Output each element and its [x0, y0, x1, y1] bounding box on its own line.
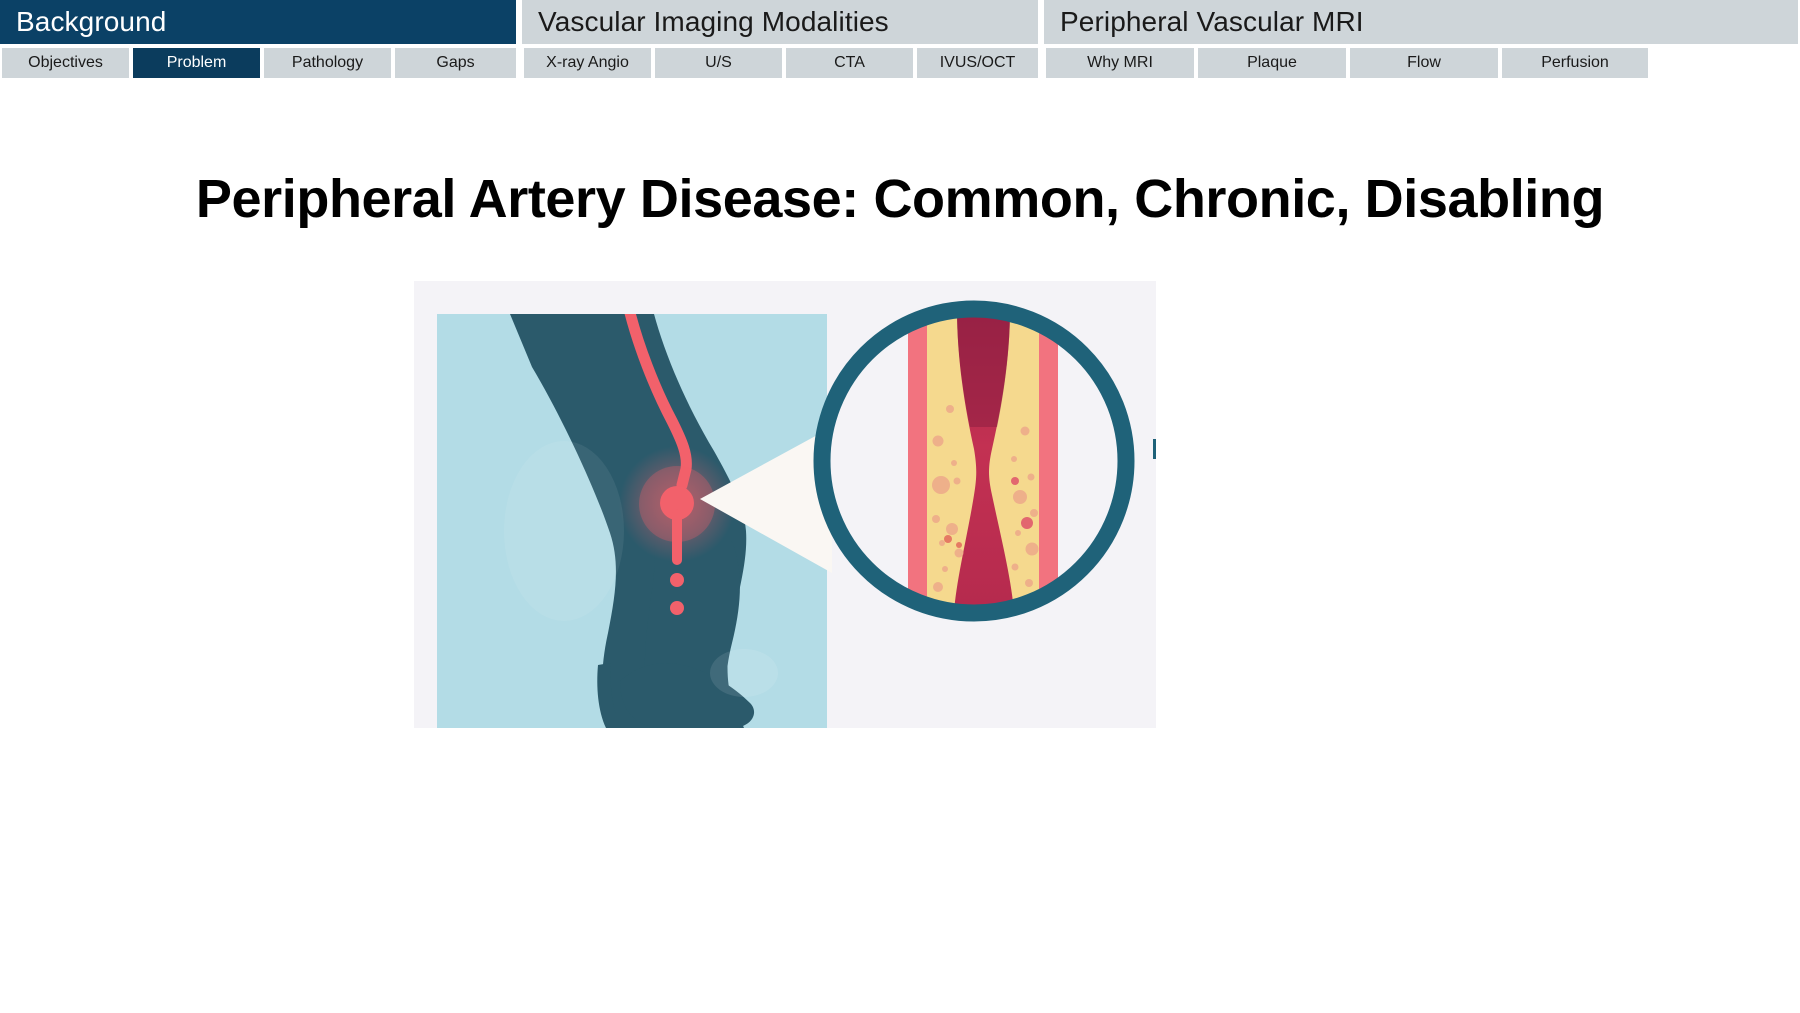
pad-illustration-figure — [414, 281, 1156, 728]
artery-dot-2 — [670, 601, 684, 615]
subtab-group-vascular-imaging-modalities: X-ray Angio U/S CTA IVUS/OCT — [522, 48, 1040, 78]
artery-magnifier — [822, 309, 1126, 613]
section-title-background[interactable]: Background — [0, 0, 518, 44]
vessel-wall-left — [908, 309, 927, 613]
subtab-group-background: Objectives Problem Pathology Gaps — [0, 48, 518, 78]
section-title-vascular-imaging-modalities[interactable]: Vascular Imaging Modalities — [522, 0, 1040, 44]
subtab-flow[interactable]: Flow — [1348, 48, 1500, 78]
subtab-why-mri[interactable]: Why MRI — [1044, 48, 1196, 78]
subtab-group-peripheral-vascular-mri: Why MRI Plaque Flow Perfusion — [1044, 48, 1650, 78]
right-edge-marker — [1153, 439, 1156, 459]
subtab-perfusion[interactable]: Perfusion — [1500, 48, 1650, 78]
page-title: Peripheral Artery Disease: Common, Chron… — [0, 168, 1800, 230]
subtab-plaque[interactable]: Plaque — [1196, 48, 1348, 78]
subtab-us[interactable]: U/S — [653, 48, 784, 78]
pad-illustration-svg — [414, 281, 1156, 728]
subtab-cta[interactable]: CTA — [784, 48, 915, 78]
subtab-objectives[interactable]: Objectives — [0, 48, 131, 78]
subtab-gaps[interactable]: Gaps — [393, 48, 518, 78]
artery-lower-segment — [672, 509, 682, 565]
subtab-x-ray-angio[interactable]: X-ray Angio — [522, 48, 653, 78]
section-title-peripheral-vascular-mri[interactable]: Peripheral Vascular MRI — [1044, 0, 1800, 44]
artery-dot-1 — [670, 573, 684, 587]
subtab-pathology[interactable]: Pathology — [262, 48, 393, 78]
subtab-problem[interactable]: Problem — [131, 48, 262, 78]
vessel-wall-right — [1039, 309, 1058, 613]
navigation-header: Background Vascular Imaging Modalities P… — [0, 0, 1800, 85]
subtab-ivus-oct[interactable]: IVUS/OCT — [915, 48, 1040, 78]
panel-sheen — [504, 441, 624, 621]
panel-sheen-2 — [710, 649, 778, 697]
